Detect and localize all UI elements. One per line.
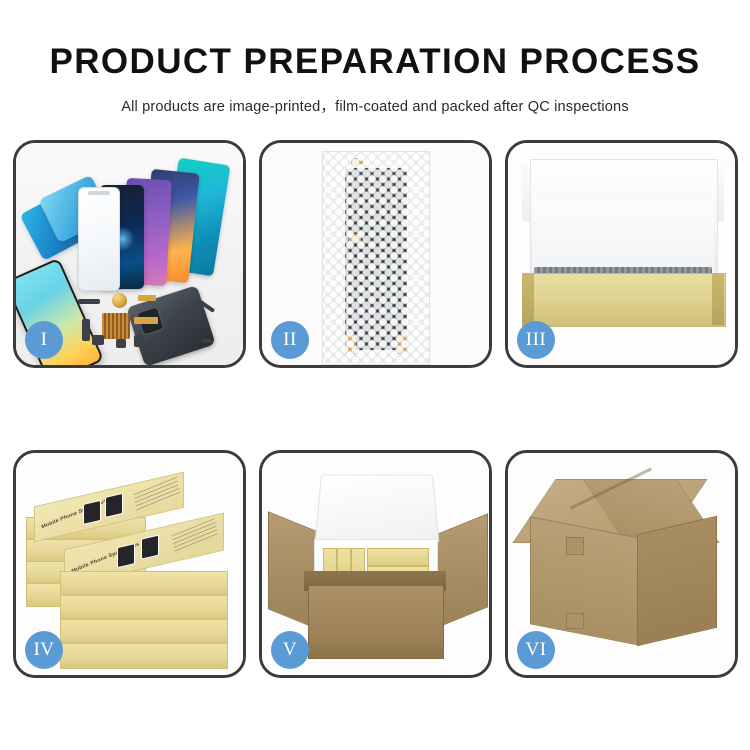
box-spec-lines-2: [172, 518, 219, 555]
step-panel-3: III: [505, 140, 738, 368]
speaker-part: [112, 293, 127, 308]
kraft-box-edge-right: [712, 273, 724, 325]
carton-front-panel: [308, 585, 444, 659]
header: PRODUCT PREPARATION PROCESS All products…: [0, 0, 750, 116]
stacked-box-front-1: [60, 571, 228, 597]
step-badge-4: IV: [25, 631, 63, 669]
step-panel-1: I: [13, 140, 246, 368]
kraft-box-edge-left: [522, 273, 534, 325]
small-part-strip: [82, 319, 90, 341]
ic-chip-grid: [102, 313, 130, 339]
step-badge-3: III: [517, 321, 555, 359]
tempered-glass-protector: [78, 187, 120, 291]
page-subtitle: All products are image-printed，film-coat…: [0, 82, 750, 116]
box-thumb-2b: [141, 535, 159, 560]
kraft-box-body: [522, 273, 726, 327]
box-thumb-2a: [117, 543, 135, 568]
packed-box-4: [367, 548, 429, 566]
small-part-cube: [134, 335, 143, 347]
flex-cable-1: [138, 295, 156, 301]
stacked-box-front-4: [60, 643, 228, 669]
stacked-box-front-2: [60, 595, 228, 621]
carton-tape-lower: [566, 613, 584, 629]
carton-tape-upper: [566, 537, 584, 555]
small-part-bar: [78, 299, 100, 304]
foam-padding: [532, 201, 714, 277]
box-thumb-1a: [83, 500, 101, 525]
flex-cable-2: [134, 317, 158, 324]
bubble-texture: [323, 152, 429, 364]
small-part-square: [116, 339, 126, 348]
carton-left-face: [530, 516, 640, 645]
process-step-grid: I II: [13, 140, 737, 678]
box-spec-lines-1: [134, 477, 181, 514]
step-badge-6: VI: [517, 631, 555, 669]
box-thumb-1b: [105, 493, 123, 518]
carton-right-face: [637, 516, 717, 646]
step-panel-2: II: [259, 140, 492, 368]
step-badge-2: II: [271, 321, 309, 359]
product-preparation-infographic: PRODUCT PREPARATION PROCESS All products…: [0, 0, 750, 750]
small-part-block: [92, 335, 104, 345]
foam-cooler-lid: [315, 475, 440, 544]
screw-part: [202, 339, 212, 343]
step-badge-5: V: [271, 631, 309, 669]
step-panel-6: VI: [505, 450, 738, 678]
bubble-wrap-bag: [322, 151, 430, 365]
page-title: PRODUCT PREPARATION PROCESS: [0, 0, 750, 82]
step-panel-5: V: [259, 450, 492, 678]
stacked-box-front-3: [60, 619, 228, 645]
step-panel-4: Mobile Phone Spare Parts Mobile Phone Sp…: [13, 450, 246, 678]
retail-box-stack: Mobile Phone Spare Parts Mobile Phone Sp…: [24, 479, 240, 655]
step-badge-1: I: [25, 321, 63, 359]
